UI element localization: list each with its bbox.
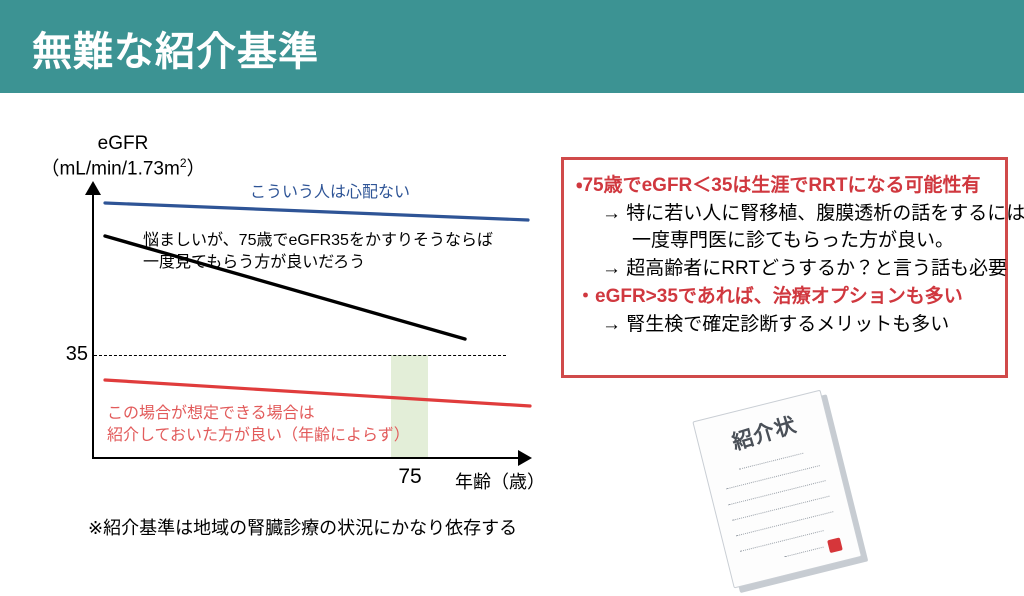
trend-lines (0, 93, 560, 576)
letter-text-rule (739, 453, 803, 470)
annotation-black-line1: 悩ましいが、75歳でeGFR35をかすりそうならば (143, 232, 493, 249)
summary-box: ・75歳でeGFR＜35は生涯でRRTになる可能性有 → 特に若い人に腎移植、腹… (561, 157, 1008, 378)
summary-line-1: ・75歳でeGFR＜35は生涯でRRTになる可能性有 (576, 172, 999, 200)
annotation-black-line2: 一度見てもらう方が良いだろう (143, 252, 493, 274)
summary-line-4: → 超高齢者にRRTどうするか？と言う話も必要 (576, 255, 999, 283)
annotation-red: この場合が想定できる場合は 紹介しておいた方が良い（年齢によらず） (107, 403, 410, 448)
annotation-red-line1: この場合が想定できる場合は (107, 405, 315, 422)
summary-line-2: → 特に若い人に腎移植、腹膜透析の話をするには (576, 200, 999, 228)
summary-line-5: ・eGFR>35であれば、治療オプションも多い (576, 283, 999, 311)
letter-title: 紹介状 (697, 399, 832, 466)
letter-seal-stamp (827, 537, 843, 553)
annotation-red-line2: 紹介しておいた方が良い（年齢によらず） (107, 425, 410, 447)
page-title: 無難な紹介基準 (32, 19, 319, 77)
egfr-age-chart: eGFR （mL/min/1.73m2） 35 75 年齢（歳） こういう人は心… (0, 93, 560, 576)
slide: 無難な紹介基準 eGFR （mL/min/1.73m2） 35 75 年齢（歳）… (0, 0, 1024, 576)
summary-line-6: → 腎生検で確定診断するメリットも多い (576, 311, 999, 339)
chart-footnote: ※紹介基準は地域の腎臓診療の状況にかなり依存する (88, 514, 517, 540)
annotation-black: 悩ましいが、75歳でeGFR35をかすりそうならば 一度見てもらう方が良いだろう (143, 230, 493, 273)
letter-page: 紹介状 (692, 390, 862, 589)
summary-line-3: 一度専門医に診てもらった方が良い。 (576, 227, 999, 255)
referral-letter-illustration: 紹介状 (692, 388, 871, 596)
annotation-blue: こういう人は心配ない (250, 178, 410, 202)
letter-text-rule (785, 547, 824, 558)
header-banner: 無難な紹介基準 (0, 0, 1024, 93)
series-line-blue (105, 203, 528, 220)
summary-list: ・75歳でeGFR＜35は生涯でRRTになる可能性有 → 特に若い人に腎移植、腹… (576, 172, 999, 338)
